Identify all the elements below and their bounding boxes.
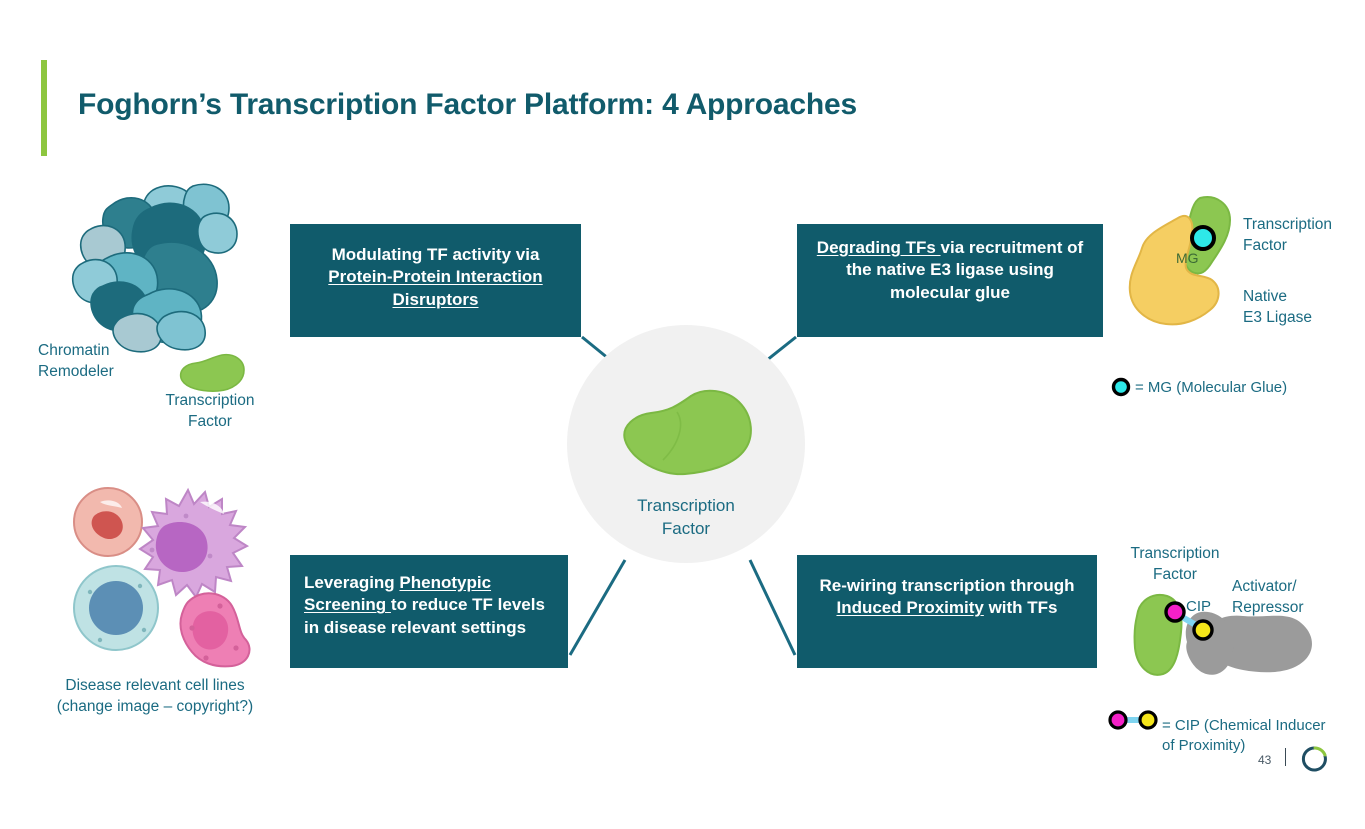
- box-ppi-underlined: Protein-Protein Interaction Disruptors: [328, 267, 542, 308]
- page-number: 43: [1258, 753, 1271, 767]
- caption-native-e3-ligase: Native E3 Ligase: [1243, 287, 1363, 329]
- footer-separator: [1285, 748, 1286, 766]
- cap-cells-line2: (change image – copyright?): [30, 697, 280, 718]
- legend-mg-text: = MG (Molecular Glue): [1135, 379, 1287, 396]
- approach-box-induced-proximity[interactable]: Re-wiring transcription through Induced …: [797, 555, 1097, 668]
- hub-label-line2: Factor: [567, 518, 805, 541]
- box-rew-underlined: Induced Proximity: [836, 598, 983, 617]
- caption-transcription-factor-ip: Transcription Factor: [1120, 544, 1230, 586]
- page-title: Foghorn’s Transcription Factor Platform:…: [78, 88, 857, 122]
- cap-tf-right-line2: Factor: [1243, 236, 1363, 257]
- cap-tf-left-line1: Transcription: [140, 391, 280, 412]
- chromatin-remodeler-icon: [55, 178, 270, 353]
- box-rew-post: with TFs: [984, 598, 1058, 617]
- cap-cells-line1: Disease relevant cell lines: [30, 676, 280, 697]
- slide-root: Foghorn’s Transcription Factor Platform:…: [0, 0, 1365, 829]
- cap-tf-left-line2: Factor: [140, 412, 280, 433]
- caption-chromatin-remodeler: Chromatin Remodeler: [38, 341, 178, 383]
- legend-mg-dot-icon: [1110, 376, 1132, 398]
- cap-e3-line2: E3 Ligase: [1243, 308, 1363, 329]
- transcription-factor-blob-icon: [615, 382, 763, 482]
- cap-chromatin-line1: Chromatin: [38, 341, 178, 362]
- caption-transcription-factor-left: Transcription Factor: [140, 391, 280, 433]
- transcription-factor-blob-left-icon: [176, 352, 248, 394]
- induced-proximity-icon: [1125, 586, 1320, 696]
- label-cip-inline: CIP: [1186, 597, 1211, 617]
- approach-box-degrading-tfs[interactable]: Degrading TFs via recruitment of the nat…: [797, 224, 1103, 337]
- hub-label-line1: Transcription: [567, 495, 805, 518]
- label-mg-inline: MG: [1176, 249, 1199, 268]
- foghorn-logo-icon: [1300, 744, 1330, 774]
- disease-cell-lines-icon: [60, 480, 270, 670]
- cap-tf-right-line1: Transcription: [1243, 215, 1363, 236]
- caption-disease-cell-lines: Disease relevant cell lines (change imag…: [30, 676, 280, 718]
- caption-transcription-factor-e3: Transcription Factor: [1243, 215, 1363, 257]
- title-accent-bar: [41, 60, 47, 156]
- cap-tf-br-line1: Transcription: [1120, 544, 1230, 565]
- box-phen-pre: Leveraging: [304, 573, 399, 592]
- box-ppi-line1: Modulating TF activity via: [302, 244, 569, 266]
- legend-cip-dots-icon: [1105, 707, 1163, 733]
- cap-e3-line1: Native: [1243, 287, 1363, 308]
- hub-label: Transcription Factor: [567, 495, 805, 541]
- cap-tf-br-line2: Factor: [1120, 565, 1230, 586]
- box-deg-underlined: Degrading TFs: [817, 238, 941, 257]
- box-rew-pre: Re-wiring transcription through: [820, 576, 1075, 595]
- approach-box-ppi-disruptors[interactable]: Modulating TF activity via Protein-Prote…: [290, 224, 581, 337]
- approach-box-phenotypic-screening[interactable]: Leveraging Phenotypic Screening to reduc…: [290, 555, 568, 668]
- legend-cip-line1: = CIP (Chemical Inducer: [1162, 716, 1337, 736]
- cap-chromatin-line2: Remodeler: [38, 362, 178, 383]
